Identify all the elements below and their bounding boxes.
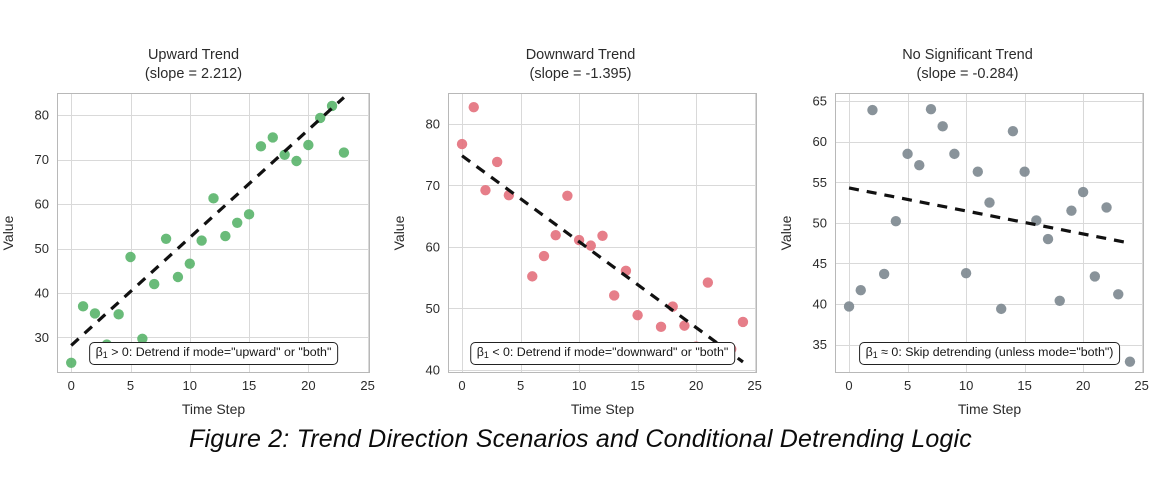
plot-border	[836, 94, 1144, 373]
y-axis-tick-label: 60	[813, 134, 827, 149]
scatter-point	[586, 240, 596, 250]
y-axis-tick-label: 50	[35, 241, 49, 256]
trend-line	[71, 97, 344, 345]
x-axis-title: Time Step	[958, 401, 1021, 417]
scatter-point	[527, 271, 537, 281]
annotation-box-upward: β1 > 0: Detrend if mode="upward" or "bot…	[89, 342, 339, 365]
y-axis-tick-label: 35	[813, 337, 827, 352]
scatter-point	[856, 285, 866, 295]
scatter-point	[609, 290, 619, 300]
y-axis-tick-label: 50	[813, 215, 827, 230]
x-axis-tick-label: 15	[242, 378, 256, 393]
scatter-point	[339, 147, 349, 157]
annotation-beta-subscript: 1	[873, 350, 878, 360]
y-axis-tick-label: 55	[813, 175, 827, 190]
x-axis-tick-label: 20	[689, 378, 703, 393]
scatter-point	[173, 272, 183, 282]
scatter-point	[161, 234, 171, 244]
y-axis-tick-label: 50	[426, 301, 440, 316]
scatter-point	[961, 268, 971, 278]
y-axis-title: Value	[391, 215, 407, 250]
x-axis-tick-label: 5	[904, 378, 911, 393]
scatter-point	[914, 160, 924, 170]
x-axis-tick-label: 20	[301, 378, 315, 393]
x-axis-title: Time Step	[571, 401, 634, 417]
y-axis-tick-label: 70	[35, 152, 49, 167]
data-points	[66, 101, 349, 368]
scatter-point	[220, 231, 230, 241]
x-axis-tick-label: 0	[845, 378, 852, 393]
scatter-point	[703, 277, 713, 287]
annotation-text: ≈ 0: Skip detrending (unless mode="both"…	[878, 345, 1114, 359]
annotation-box-downward: β1 < 0: Detrend if mode="downward" or "b…	[470, 342, 736, 365]
y-axis-tick-label: 80	[35, 108, 49, 123]
scatter-point	[1066, 205, 1076, 215]
plot-border	[58, 94, 370, 373]
x-axis-tick-label: 0	[458, 378, 465, 393]
scatter-point	[949, 149, 959, 159]
scatter-point	[78, 301, 88, 311]
scatter-point	[867, 105, 877, 115]
panel-title-no-trend: No Significant Trend (slope = -0.284)	[774, 46, 1161, 84]
scatter-point	[457, 139, 467, 149]
panel-upward-trend: Upward Trend (slope = 2.212) 30405060708…	[0, 0, 387, 415]
scatter-point	[268, 132, 278, 142]
x-axis-tick-label: 5	[517, 378, 524, 393]
panels-row: Upward Trend (slope = 2.212) 30405060708…	[0, 0, 1161, 415]
gridlines	[57, 93, 370, 373]
panel-no-significant-trend: No Significant Trend (slope = -0.284) 35…	[774, 0, 1161, 415]
y-axis-tick-label: 65	[813, 94, 827, 109]
scatter-point	[291, 156, 301, 166]
scatter-point	[256, 141, 266, 151]
scatter-point	[937, 121, 947, 131]
scatter-point	[597, 231, 607, 241]
scatter-point	[185, 258, 195, 268]
x-axis-tick-label: 25	[747, 378, 761, 393]
scatter-point	[303, 140, 313, 150]
y-axis-tick-label: 60	[35, 197, 49, 212]
panel-downward-trend: Downward Trend (slope = -1.395) 40506070…	[387, 0, 774, 415]
x-axis-tick-label: 15	[630, 378, 644, 393]
panel-title-downward: Downward Trend (slope = -1.395)	[387, 46, 774, 84]
scatter-point	[902, 149, 912, 159]
annotation-beta-subscript: 1	[103, 350, 108, 360]
x-axis-tick-label: 5	[127, 378, 134, 393]
annotation-box-no-trend: β1 ≈ 0: Skip detrending (unless mode="bo…	[859, 342, 1121, 365]
x-axis-tick-label: 20	[1076, 378, 1090, 393]
scatter-point	[1008, 126, 1018, 136]
annotation-text: < 0: Detrend if mode="downward" or "both…	[489, 345, 728, 359]
x-axis-title: Time Step	[182, 401, 245, 417]
scatter-point	[562, 191, 572, 201]
y-axis-tick-label: 60	[426, 239, 440, 254]
scatter-point	[66, 358, 76, 368]
scatter-plot-no-trend: 354045505560650510152025Time StepValue	[835, 93, 1144, 373]
scatter-point	[232, 218, 242, 228]
plot-area-no-trend: 354045505560650510152025Time StepValue β…	[835, 93, 1144, 373]
scatter-point	[113, 309, 123, 319]
scatter-point	[1078, 187, 1088, 197]
scatter-point	[1055, 296, 1065, 306]
scatter-point	[244, 209, 254, 219]
plot-area-upward: 3040506070800510152025Time StepValue β1 …	[57, 93, 370, 373]
scatter-point	[550, 230, 560, 240]
panel-title-upward: Upward Trend (slope = 2.212)	[0, 46, 387, 84]
x-axis-tick-label: 10	[183, 378, 197, 393]
x-axis-tick-label: 15	[1017, 378, 1031, 393]
scatter-point	[149, 279, 159, 289]
trend-line	[849, 188, 1130, 243]
scatter-point	[996, 304, 1006, 314]
scatter-plot-upward: 3040506070800510152025Time StepValue	[57, 93, 370, 373]
x-axis-tick-label: 0	[68, 378, 75, 393]
scatter-point	[1125, 356, 1135, 366]
x-axis-tick-label: 10	[959, 378, 973, 393]
plot-area-downward: 40506070800510152025Time StepValue β1 < …	[448, 93, 757, 373]
x-axis-tick-label: 25	[360, 378, 374, 393]
scatter-point	[125, 252, 135, 262]
y-axis-tick-label: 40	[813, 297, 827, 312]
scatter-point	[891, 216, 901, 226]
y-axis-tick-label: 80	[426, 116, 440, 131]
y-axis-title: Value	[778, 215, 794, 250]
y-axis-tick-label: 30	[35, 330, 49, 345]
y-axis-tick-label: 40	[35, 286, 49, 301]
scatter-point	[844, 301, 854, 311]
scatter-point	[1113, 289, 1123, 299]
annotation-beta-subscript: 1	[484, 350, 489, 360]
y-axis-tick-label: 45	[813, 256, 827, 271]
figure-caption: Figure 2: Trend Direction Scenarios and …	[0, 425, 1161, 454]
scatter-point	[469, 102, 479, 112]
scatter-point	[90, 308, 100, 318]
y-axis-tick-label: 70	[426, 178, 440, 193]
scatter-point	[208, 193, 218, 203]
trend-line	[462, 156, 743, 362]
figure-container: Upward Trend (slope = 2.212) 30405060708…	[0, 0, 1161, 492]
scatter-point	[679, 320, 689, 330]
scatter-point	[196, 235, 206, 245]
scatter-plot-downward: 40506070800510152025Time StepValue	[448, 93, 757, 373]
y-axis-title: Value	[0, 215, 16, 250]
scatter-point	[1043, 234, 1053, 244]
scatter-point	[480, 185, 490, 195]
scatter-point	[1019, 167, 1029, 177]
scatter-point	[539, 251, 549, 261]
annotation-text: > 0: Detrend if mode="upward" or "both"	[108, 345, 332, 359]
scatter-point	[879, 269, 889, 279]
data-points	[844, 104, 1135, 367]
x-axis-tick-label: 10	[572, 378, 586, 393]
scatter-point	[632, 310, 642, 320]
scatter-point	[1090, 271, 1100, 281]
data-points	[457, 102, 748, 360]
scatter-point	[984, 197, 994, 207]
scatter-point	[926, 104, 936, 114]
scatter-point	[656, 322, 666, 332]
scatter-point	[738, 317, 748, 327]
y-axis-tick-label: 40	[426, 362, 440, 377]
scatter-point	[973, 167, 983, 177]
scatter-point	[1101, 202, 1111, 212]
x-axis-tick-label: 25	[1134, 378, 1148, 393]
scatter-point	[492, 157, 502, 167]
gridlines	[835, 93, 1144, 373]
